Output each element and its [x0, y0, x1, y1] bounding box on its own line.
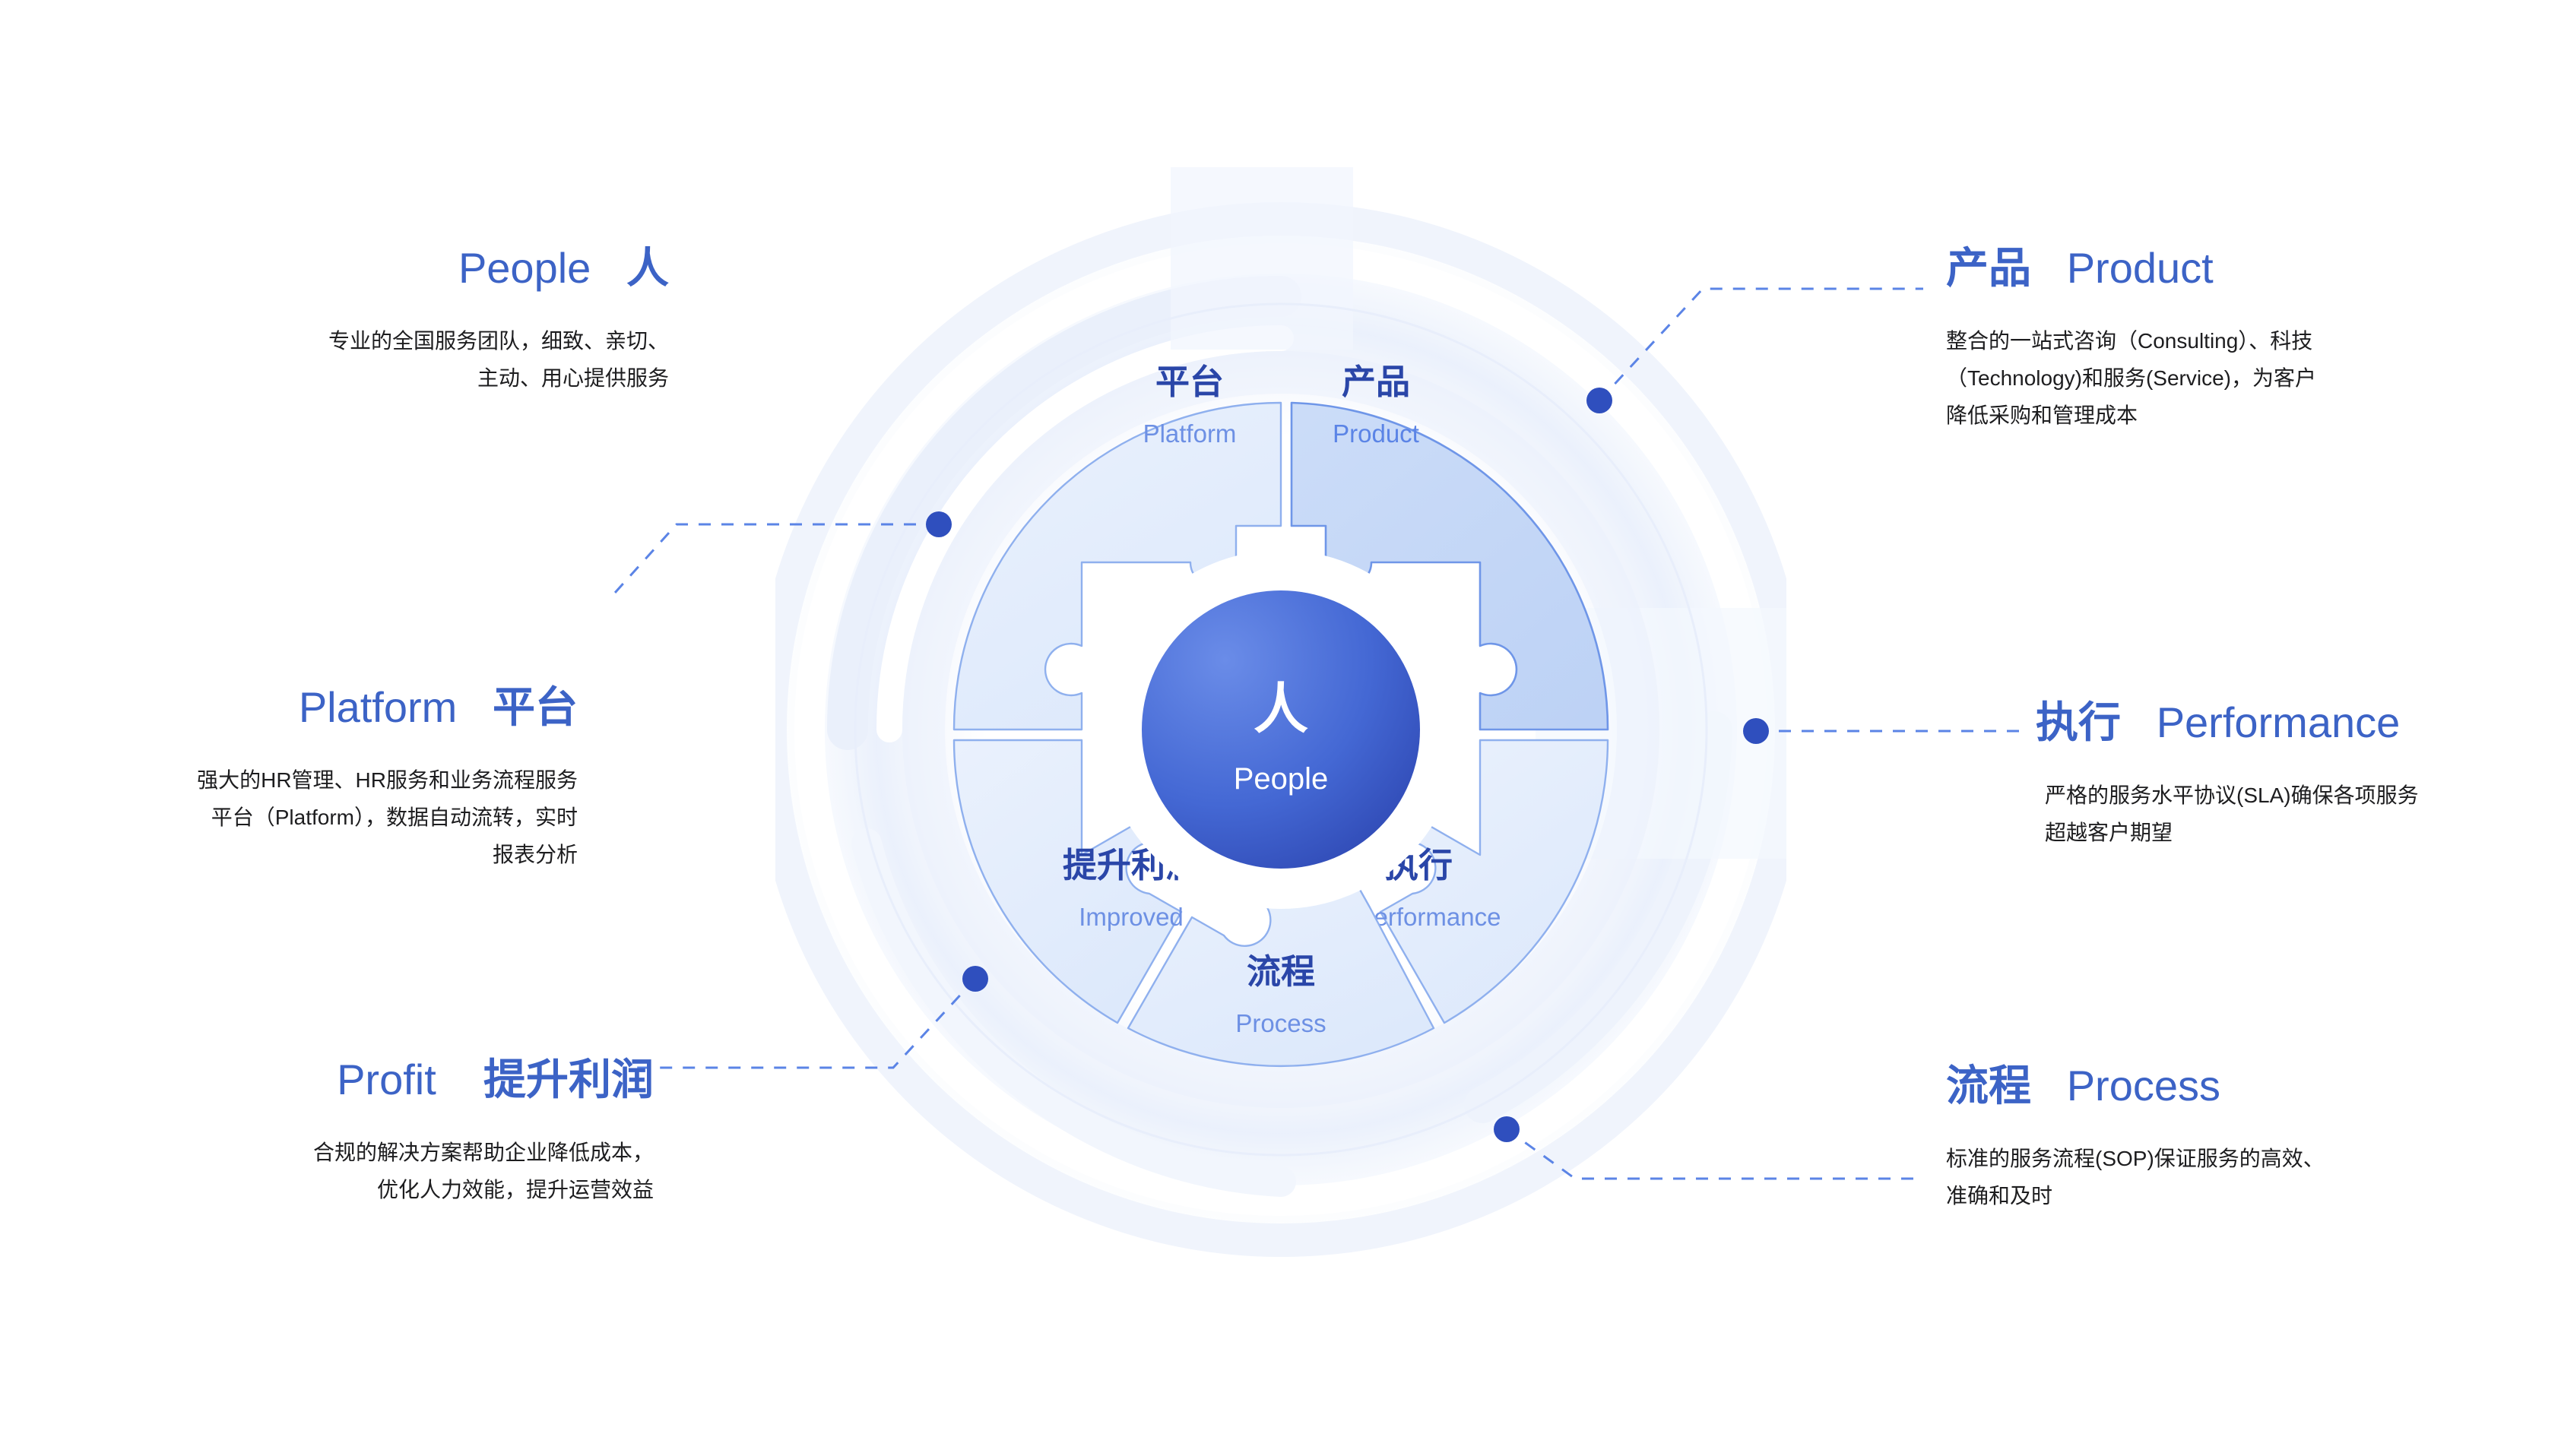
- callout-people-title-en: People: [458, 244, 591, 292]
- callout-performance-title: 执行 Performance: [2036, 699, 2561, 746]
- callout-platform-title: Platform 平台: [0, 684, 578, 731]
- callout-product-title-en: Product: [2067, 244, 2214, 292]
- callout-people[interactable]: People 人 专业的全国服务团队，细致、亲切、 主动、用心提供服务: [0, 245, 669, 397]
- callout-process[interactable]: 流程 Process 标准的服务流程(SOP)保证服务的高效、 准确和及时: [1946, 1062, 2561, 1214]
- callout-process-title-en: Process: [2067, 1062, 2220, 1109]
- callout-performance[interactable]: 执行 Performance 严格的服务水平协议(SLA)确保各项服务 超越客户…: [2045, 699, 2561, 851]
- callout-process-title: 流程 Process: [1946, 1062, 2561, 1109]
- callout-profit-title: Profit 提升利润: [0, 1056, 654, 1103]
- callout-process-desc: 标准的服务流程(SOP)保证服务的高效、 准确和及时: [1946, 1140, 2561, 1214]
- callout-platform-title-cn: 平台: [493, 683, 578, 731]
- callout-people-desc: 专业的全国服务团队，细致、亲切、 主动、用心提供服务: [0, 322, 669, 397]
- ppppp-wheel-diagram: 平台 Platform 产品 Product 执行 Performance 流程…: [775, 76, 1786, 1383]
- segment-label-product-cn: 产品: [1342, 362, 1410, 401]
- segment-label-platform-cn: 平台: [1155, 362, 1224, 401]
- callout-profit-title-en: Profit: [337, 1056, 436, 1103]
- hub-people[interactable]: 人 People: [1142, 590, 1420, 869]
- callout-profit[interactable]: Profit 提升利润 合规的解决方案帮助企业降低成本， 优化人力效能，提升运营…: [0, 1056, 654, 1208]
- callout-product-title-cn: 产品: [1946, 244, 2031, 292]
- hub-label-en: People: [1234, 762, 1329, 796]
- callout-people-title-cn: 人: [626, 244, 669, 292]
- infographic-canvas: 平台 Platform 产品 Product 执行 Performance 流程…: [0, 0, 2561, 1456]
- callout-performance-title-cn: 执行: [2036, 698, 2121, 746]
- callout-platform[interactable]: Platform 平台 强大的HR管理、HR服务和业务流程服务 平台（Platf…: [0, 684, 578, 873]
- callout-people-title: People 人: [0, 245, 669, 292]
- segment-label-product-en: Product: [1333, 419, 1419, 448]
- segment-label-process-cn: 流程: [1247, 952, 1315, 991]
- callout-profit-desc: 合规的解决方案帮助企业降低成本， 优化人力效能，提升运营效益: [0, 1134, 654, 1208]
- callout-product-desc: 整合的一站式咨询（Consulting）、科技 （Technology)和服务(…: [1946, 322, 2561, 434]
- segment-label-improved-en: Improved: [1079, 903, 1184, 931]
- hub-label-cn: 人: [1254, 679, 1308, 740]
- callout-performance-desc: 严格的服务水平协议(SLA)确保各项服务 超越客户期望: [2045, 777, 2561, 851]
- callout-platform-title-en: Platform: [299, 683, 458, 731]
- callout-product-title: 产品 Product: [1946, 245, 2561, 292]
- segment-label-process-en: Process: [1235, 1009, 1326, 1037]
- segment-label-platform-en: Platform: [1143, 419, 1237, 448]
- callout-product[interactable]: 产品 Product 整合的一站式咨询（Consulting）、科技 （Tech…: [1946, 245, 2561, 434]
- callout-platform-desc: 强大的HR管理、HR服务和业务流程服务 平台（Platform），数据自动流转，…: [0, 761, 578, 873]
- callout-process-title-cn: 流程: [1946, 1062, 2031, 1109]
- callout-performance-title-en: Performance: [2157, 698, 2401, 746]
- callout-profit-title-cn: 提升利润: [483, 1056, 654, 1103]
